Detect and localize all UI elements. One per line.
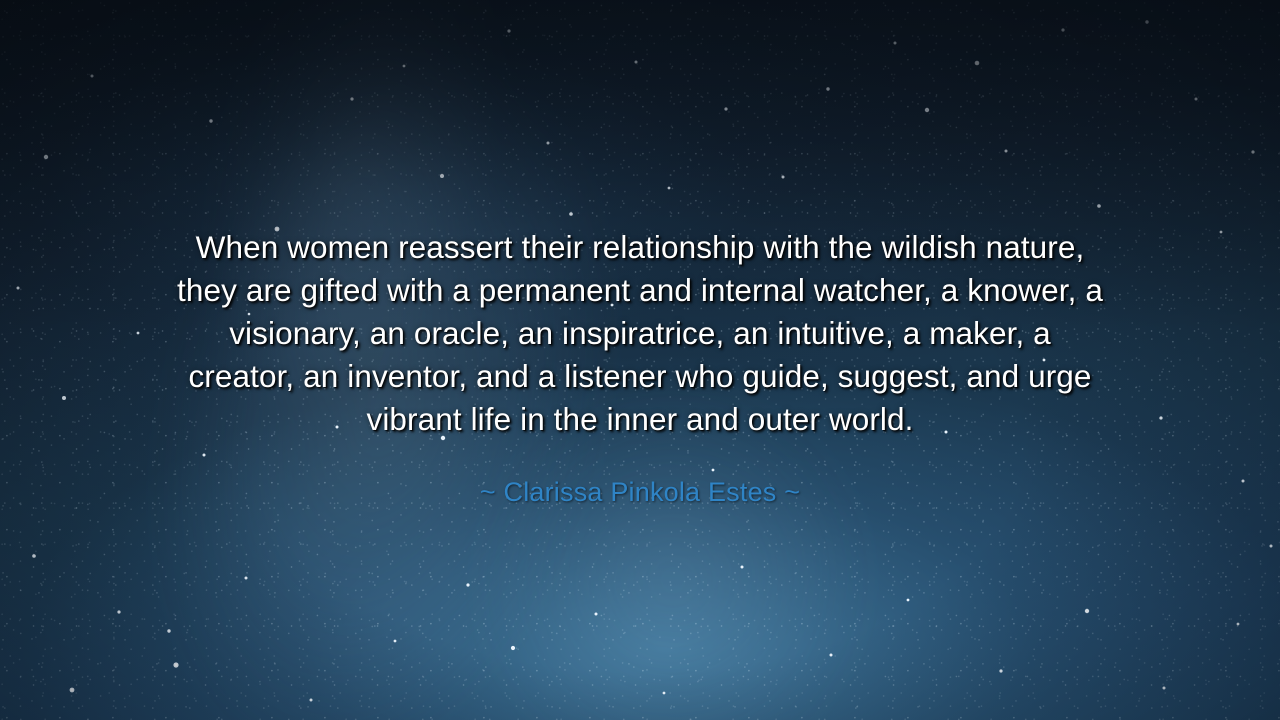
quote-line-5: vibrant life in the inner and outer worl…: [104, 398, 1176, 441]
quote-line-1: When women reassert their relationship w…: [104, 226, 1176, 269]
quote-attribution: ~ Clarissa Pinkola Estes ~: [480, 475, 800, 509]
quote-text: When women reassert their relationship w…: [104, 226, 1176, 441]
slide-content: When women reassert their relationship w…: [0, 0, 1280, 720]
quote-line-2: they are gifted with a permanent and int…: [104, 269, 1176, 312]
quote-line-4: creator, an inventor, and a listener who…: [104, 355, 1176, 398]
quote-line-3: visionary, an oracle, an inspiratrice, a…: [104, 312, 1176, 355]
quote-slide: When women reassert their relationship w…: [0, 0, 1280, 720]
